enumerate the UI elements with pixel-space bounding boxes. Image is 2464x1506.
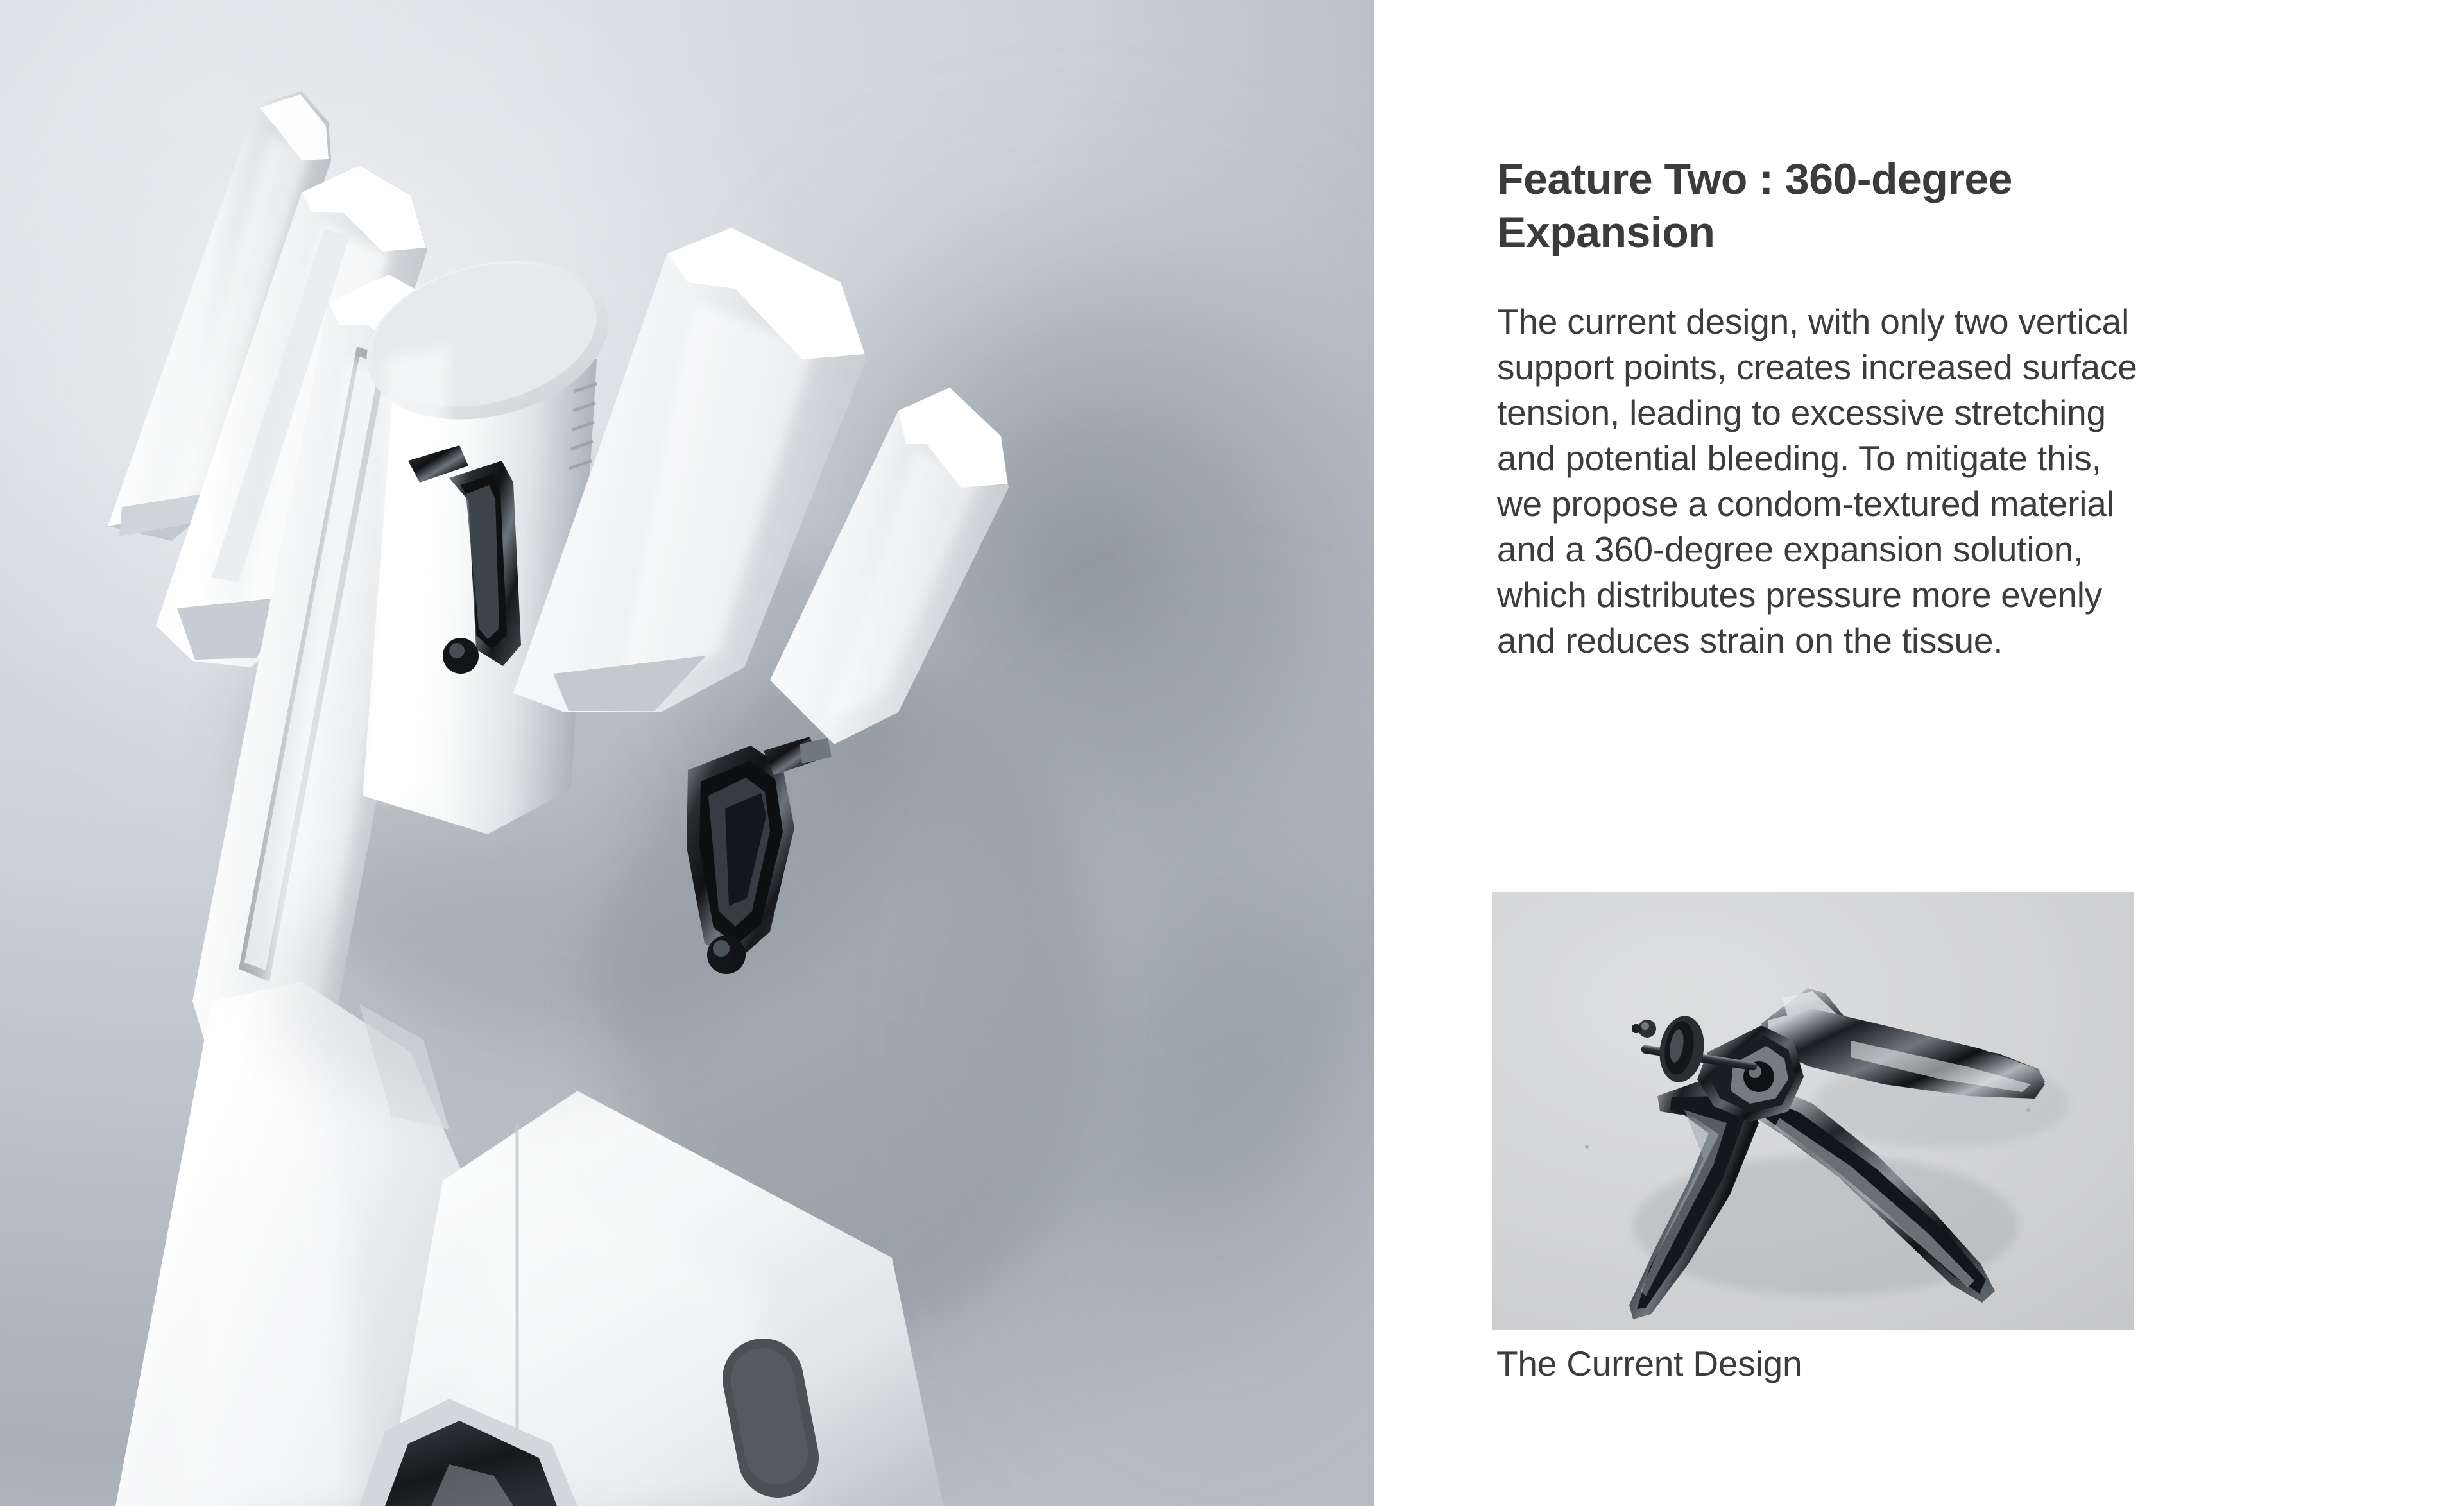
render-backdrop-shadow-secondary <box>930 578 1374 1506</box>
device-blade-second <box>156 166 427 667</box>
body-paragraph: The current design, with only two vertic… <box>1497 299 2152 663</box>
content-panel: Feature Two : 360-degree Expansion The c… <box>1374 0 2464 1506</box>
device-blade-upper-right <box>513 228 866 712</box>
device-latch-lower <box>687 737 832 974</box>
device-base-body <box>359 1091 943 1506</box>
current-design-photo <box>1492 892 2134 1330</box>
device-blade-center-left <box>193 275 459 1078</box>
speculum-illustration <box>1492 892 2134 1330</box>
device-central-cylinder <box>350 237 626 834</box>
device-illustration <box>0 0 1374 1506</box>
device-blade-right <box>770 388 1009 744</box>
render-backlight <box>0 0 834 898</box>
page-title: Feature Two : 360-degree Expansion <box>1497 153 2145 259</box>
slide-root: Feature Two : 360-degree Expansion The c… <box>0 0 2464 1506</box>
photo-caption: The Current Design <box>1496 1342 1802 1385</box>
device-blade-left <box>108 91 331 541</box>
device-latch-upper <box>408 445 521 674</box>
render-backdrop-shadow <box>629 77 1374 1040</box>
device-handle <box>116 982 558 1506</box>
product-render-panel <box>0 0 1374 1506</box>
